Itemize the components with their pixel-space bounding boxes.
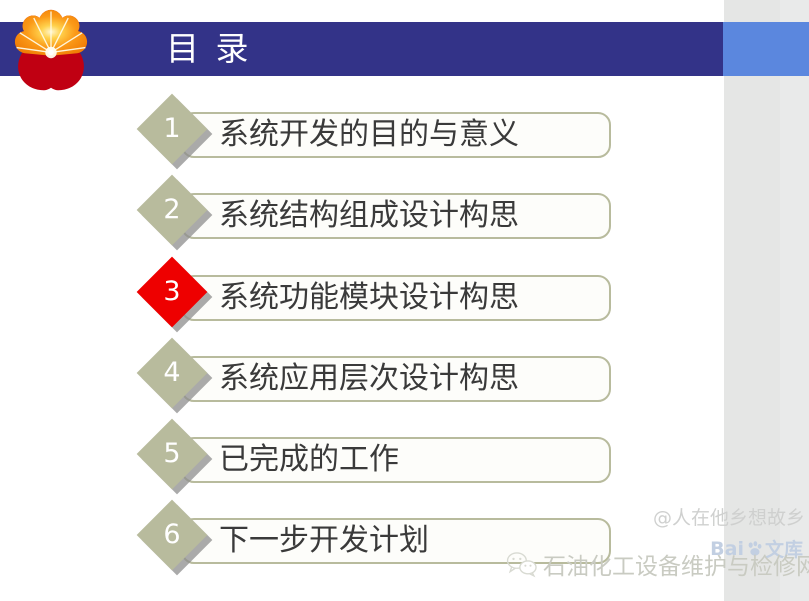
toc-label: 系统功能模块设计构思 bbox=[219, 275, 519, 321]
toc-label: 已完成的工作 bbox=[219, 437, 399, 483]
toc-number: 5 bbox=[147, 429, 197, 479]
toc-item-3[interactable]: 3 系统功能模块设计构思 bbox=[0, 262, 809, 338]
watermark-nickname: @人在他乡想故乡 bbox=[653, 503, 805, 530]
toc-item-5[interactable]: 5 已完成的工作 bbox=[0, 424, 809, 500]
toc-number: 4 bbox=[147, 348, 197, 398]
toc-item-2[interactable]: 2 系统结构组成设计构思 bbox=[0, 180, 809, 256]
toc-item-4[interactable]: 4 系统应用层次设计构思 bbox=[0, 343, 809, 419]
toc-label: 系统结构组成设计构思 bbox=[219, 193, 519, 239]
toc-number: 3 bbox=[147, 267, 197, 317]
watermark-site: 石油化工设备维护与检修网 bbox=[543, 547, 809, 581]
toc-number: 6 bbox=[147, 510, 197, 560]
wechat-icon bbox=[505, 550, 539, 578]
toc-label: 系统应用层次设计构思 bbox=[219, 356, 519, 402]
toc-label: 系统开发的目的与意义 bbox=[219, 112, 519, 158]
toc-label: 下一步开发计划 bbox=[219, 518, 429, 564]
toc-number: 1 bbox=[147, 104, 197, 154]
toc-item-1[interactable]: 1 系统开发的目的与意义 bbox=[0, 99, 809, 175]
toc-number: 2 bbox=[147, 185, 197, 235]
slide-canvas: 目 录 bbox=[0, 0, 809, 601]
